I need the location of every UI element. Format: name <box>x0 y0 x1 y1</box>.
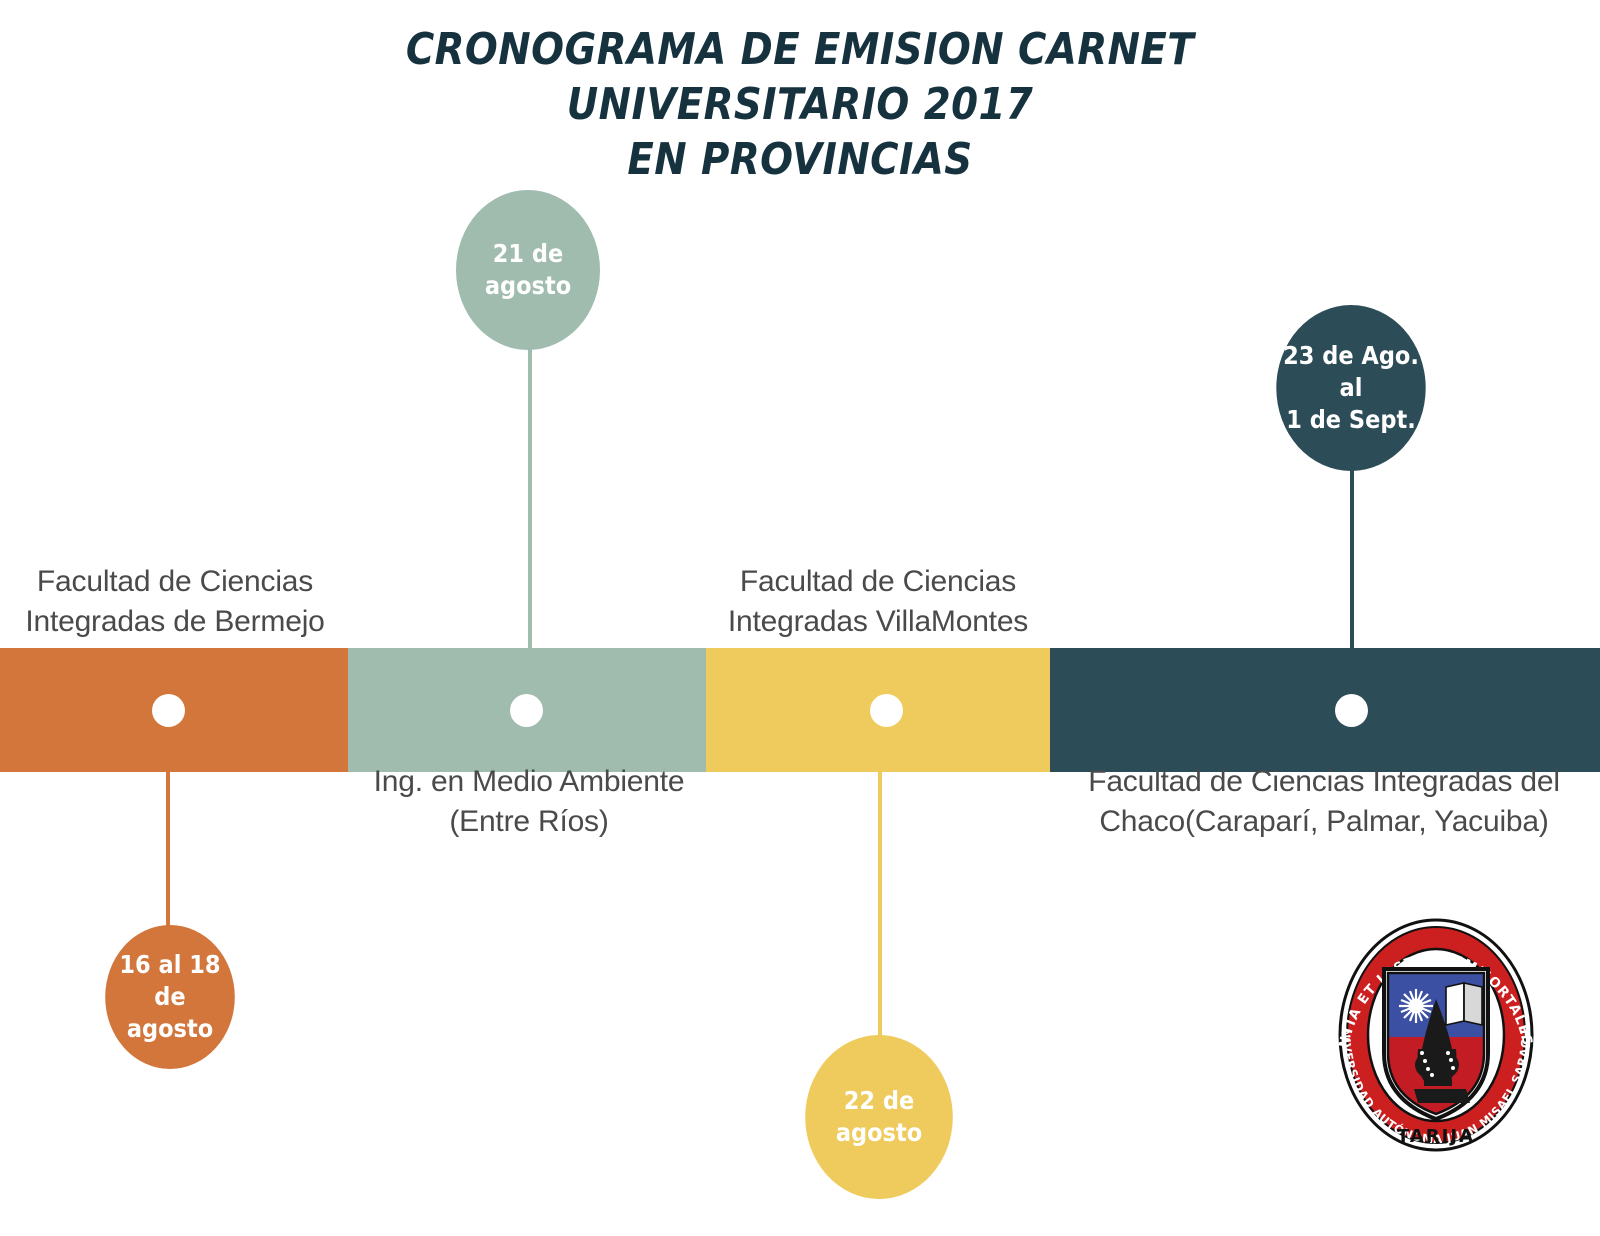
page-title: CRONOGRAMA DE EMISION CARNET UNIVERSITAR… <box>360 22 1240 187</box>
caption-villamontes-line-2: Integradas VillaMontes <box>706 602 1050 642</box>
timeline-segment-bermejo[interactable] <box>0 648 348 772</box>
connector-line-villamontes <box>878 770 882 1070</box>
date-bubble-entre-rios[interactable]: 21 de agosto <box>456 190 600 350</box>
page-title-line-1: CRONOGRAMA DE EMISION CARNET <box>360 22 1240 77</box>
date-bubble-chaco-line-2: al <box>1279 372 1422 404</box>
page-title-line-2: UNIVERSITARIO 2017 <box>360 77 1240 132</box>
date-bubble-chaco-line-1: 23 de Ago. <box>1279 340 1422 372</box>
caption-villamontes: Facultad de Ciencias Integradas VillaMon… <box>706 562 1050 642</box>
connector-line-chaco <box>1350 455 1354 651</box>
caption-chaco-line-1: Facultad de Ciencias Integradas del <box>1048 762 1600 802</box>
seal-center-text: TARIJA <box>1397 1126 1475 1147</box>
date-bubble-bermejo[interactable]: 16 al 18 de agosto <box>105 925 235 1069</box>
date-bubble-chaco[interactable]: 23 de Ago. al 1 de Sept. <box>1276 305 1425 471</box>
timeline-dot-chaco <box>1335 694 1368 727</box>
connector-line-bermejo <box>166 770 170 935</box>
date-bubble-chaco-line-3: 1 de Sept. <box>1279 404 1422 436</box>
infographic-canvas: CRONOGRAMA DE EMISION CARNET UNIVERSITAR… <box>0 0 1600 1236</box>
timeline-segment-entre-rios[interactable] <box>348 648 706 772</box>
timeline-dot-bermejo <box>152 694 185 727</box>
date-bubble-villamontes[interactable]: 22 de agosto <box>805 1035 953 1199</box>
caption-entre-rios-line-2: (Entre Ríos) <box>350 802 708 842</box>
university-seal: SAPIENTIA ET JUSTITIA IMMORTALES SUNT UN… <box>1318 903 1554 1167</box>
caption-entre-rios: Ing. en Medio Ambiente (Entre Ríos) <box>350 762 708 842</box>
open-book-icon <box>1446 983 1482 1025</box>
caption-villamontes-line-1: Facultad de Ciencias <box>706 562 1050 602</box>
caption-entre-rios-line-1: Ing. en Medio Ambiente <box>350 762 708 802</box>
date-bubble-bermejo-line-2: agosto <box>105 1013 235 1045</box>
connector-line-entre-rios <box>528 320 532 650</box>
date-bubble-entre-rios-line-1: 21 de agosto <box>456 238 600 302</box>
timeline-segment-chaco[interactable] <box>1050 648 1600 772</box>
timeline-segment-villamontes[interactable] <box>706 648 1050 772</box>
date-bubble-bermejo-line-1: 16 al 18 de <box>105 949 235 1013</box>
timeline-dot-villamontes <box>870 694 903 727</box>
page-title-line-3: EN PROVINCIAS <box>360 132 1240 187</box>
date-bubble-villamontes-line-1: 22 de agosto <box>805 1085 953 1149</box>
caption-chaco: Facultad de Ciencias Integradas del Chac… <box>1048 762 1600 842</box>
caption-bermejo-line-1: Facultad de Ciencias <box>0 562 350 602</box>
caption-bermejo-line-2: Integradas de Bermejo <box>0 602 350 642</box>
caption-bermejo: Facultad de Ciencias Integradas de Berme… <box>0 562 350 642</box>
timeline-dot-entre-rios <box>510 694 543 727</box>
caption-chaco-line-2: Chaco(Caraparí, Palmar, Yacuiba) <box>1048 802 1600 842</box>
timeline-bar <box>0 648 1600 772</box>
sun-star-icon <box>1399 989 1433 1023</box>
